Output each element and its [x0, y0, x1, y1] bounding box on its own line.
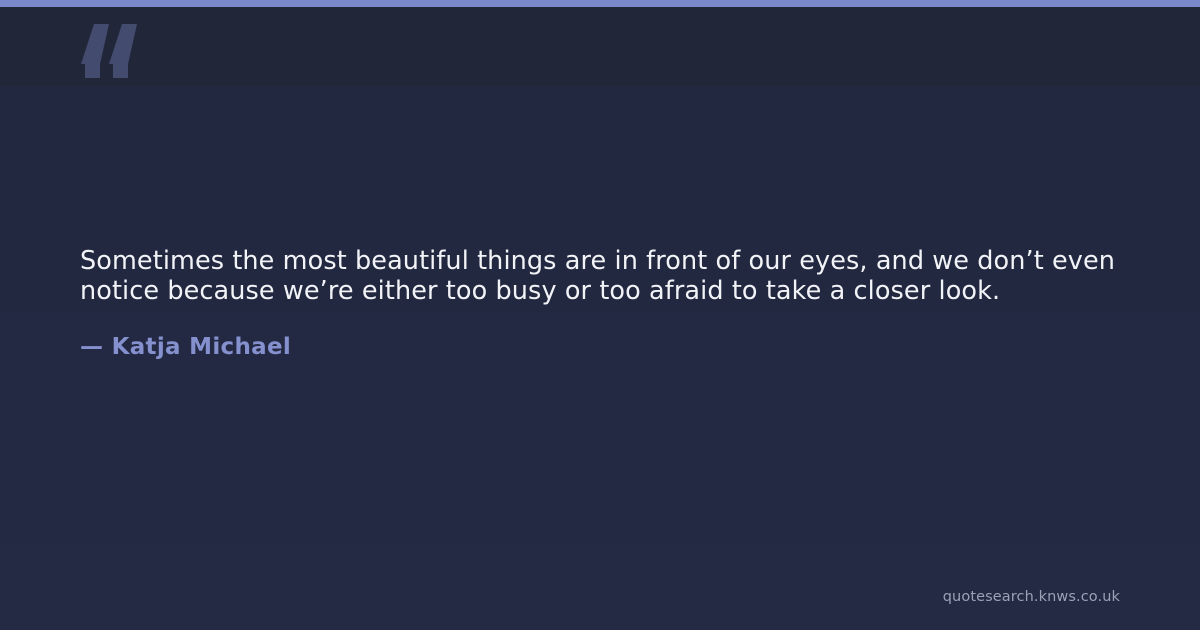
open-quote-icon: [78, 14, 148, 90]
top-accent-bar: [0, 0, 1200, 7]
card-content: Sometimes the most beautiful things are …: [0, 0, 1200, 630]
quote-text: Sometimes the most beautiful things are …: [80, 246, 1125, 306]
quote-card: Sometimes the most beautiful things are …: [0, 0, 1200, 630]
quote-author: — Katja Michael: [80, 333, 291, 361]
source-url: quotesearch.knws.co.uk: [943, 588, 1120, 606]
